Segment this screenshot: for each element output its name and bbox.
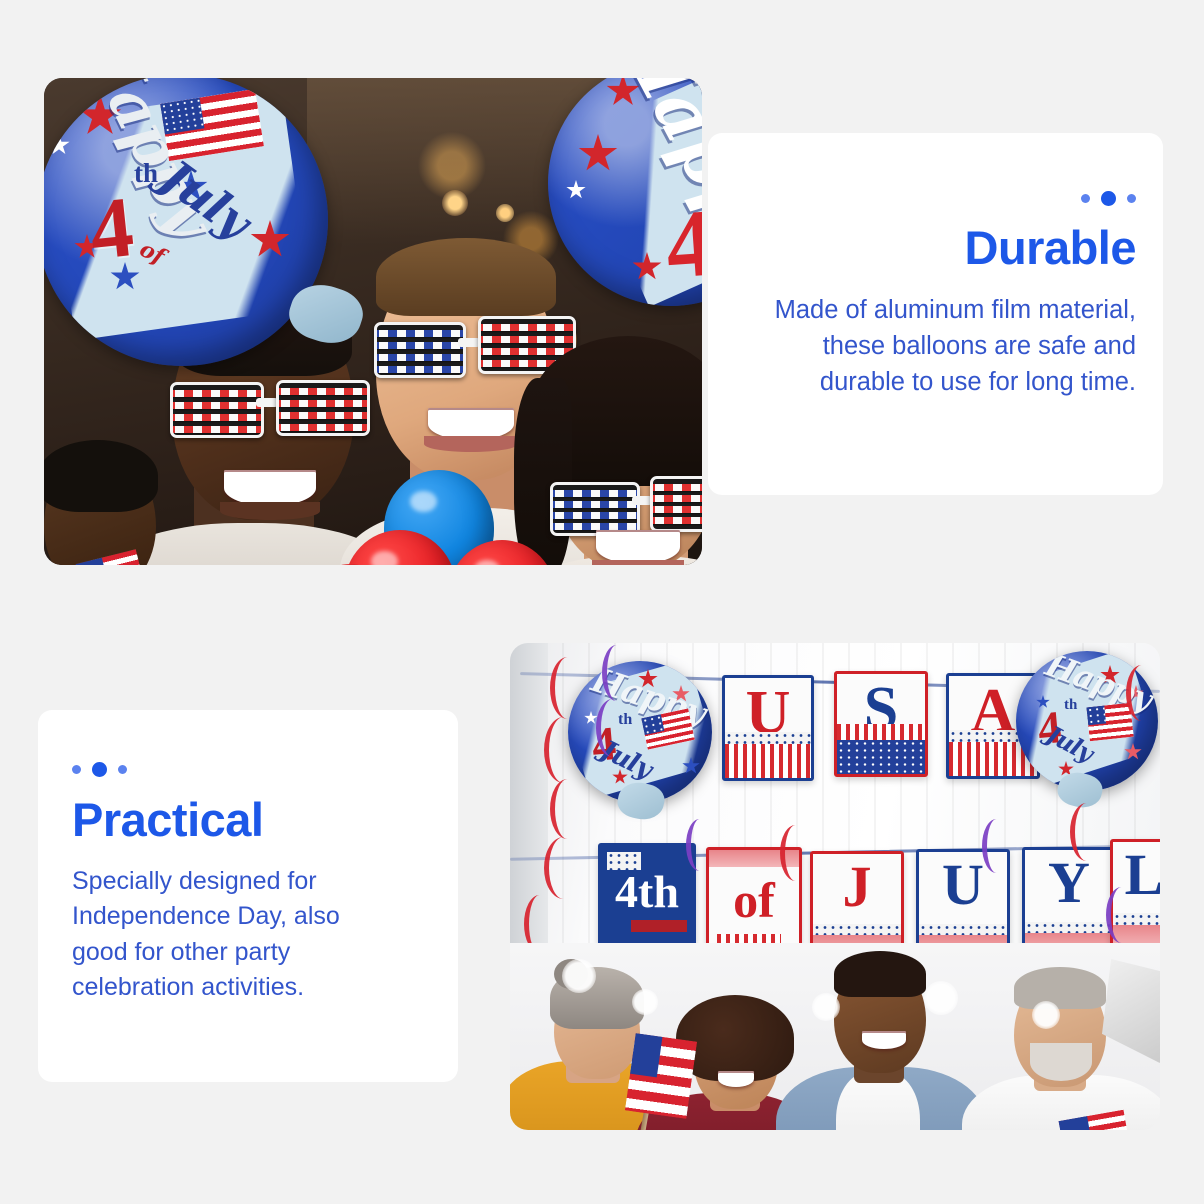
banner-photo: U S A 4th of [510,643,1160,1130]
swirl-decoration [780,825,811,881]
swirl-decoration [544,837,583,899]
feature-body-line: Independence Day, also [72,902,340,930]
swirl-decoration [982,819,1011,873]
feature-card-practical: Practical Specially designed for Indepen… [38,710,458,1082]
hanging-light-icon [496,204,514,222]
swirl-decoration [1126,665,1157,721]
feature-body-durable: Made of aluminum film material, these ba… [716,292,1136,401]
swirl-decoration [544,717,583,783]
us-flag-icon [1086,703,1133,741]
party-scene: Happy 4 th July of Happy 4 th [44,78,702,565]
feature-body-line: Made of aluminum film material, [775,296,1136,324]
banner-card-U: U [722,675,814,781]
banner-letter: Y [1025,854,1113,912]
banner-card-S: S [834,671,928,777]
flag-shutter-shades [170,378,366,440]
dots-decoration [72,760,432,778]
banner-letter: J [813,858,901,916]
feature-title-practical: Practical [72,796,432,845]
family-group [510,943,1160,1130]
feature-body-line: good for other party [72,938,290,966]
dot-small-right [1127,194,1136,203]
feature-body-line: celebration activities. [72,973,304,1001]
swirl-decoration [686,819,713,871]
bokeh-light [562,959,596,993]
banner-card-Y: Y [1022,847,1116,957]
feature-card-durable: Durable Made of aluminum film material, … [708,133,1163,495]
banner-letter: of [709,875,799,925]
balloon-4-text: 4 [662,186,702,300]
dot-large-center [92,762,107,777]
bokeh-light [1032,1001,1060,1029]
balloon-th-text: th [134,158,158,189]
party-photo: Happy 4 th July of Happy 4 th [44,78,702,565]
bokeh-light [924,981,958,1015]
swirl-decoration [550,657,585,719]
dots-decoration [716,189,1136,207]
product-feature-collage: Happy 4 th July of Happy 4 th [0,0,1204,1204]
bokeh-light [632,989,658,1015]
swirl-decoration [602,645,631,701]
swirl-decoration [550,779,585,839]
feature-body-practical: Specially designed for Independence Day,… [72,864,432,1006]
banner-scene: U S A 4th of [510,643,1160,1130]
dot-small-left [72,765,81,774]
us-flag-icon [625,1033,697,1119]
flag-shutter-shades [550,476,702,536]
swirl-decoration [1070,803,1103,861]
dot-large-center [1101,191,1116,206]
banner-card-4th: 4th [598,843,696,953]
dot-small-right [118,765,127,774]
swirl-decoration [1106,887,1137,943]
flag-shutter-shades [374,316,570,378]
feature-body-line: Specially designed for [72,867,317,895]
swirl-decoration [596,699,629,757]
dot-small-left [1081,194,1090,203]
feature-title-durable: Durable [716,224,1136,273]
feature-body-line: durable to use for long time. [820,368,1136,396]
bokeh-light [812,993,840,1021]
hanging-light-icon [442,190,468,216]
foil-balloon-left: Happy 4 th July of [44,78,328,366]
balloon-th-text: th [1064,697,1077,714]
banner-letter: 4th [601,869,693,915]
feature-body-line: these balloons are safe and [823,332,1136,360]
